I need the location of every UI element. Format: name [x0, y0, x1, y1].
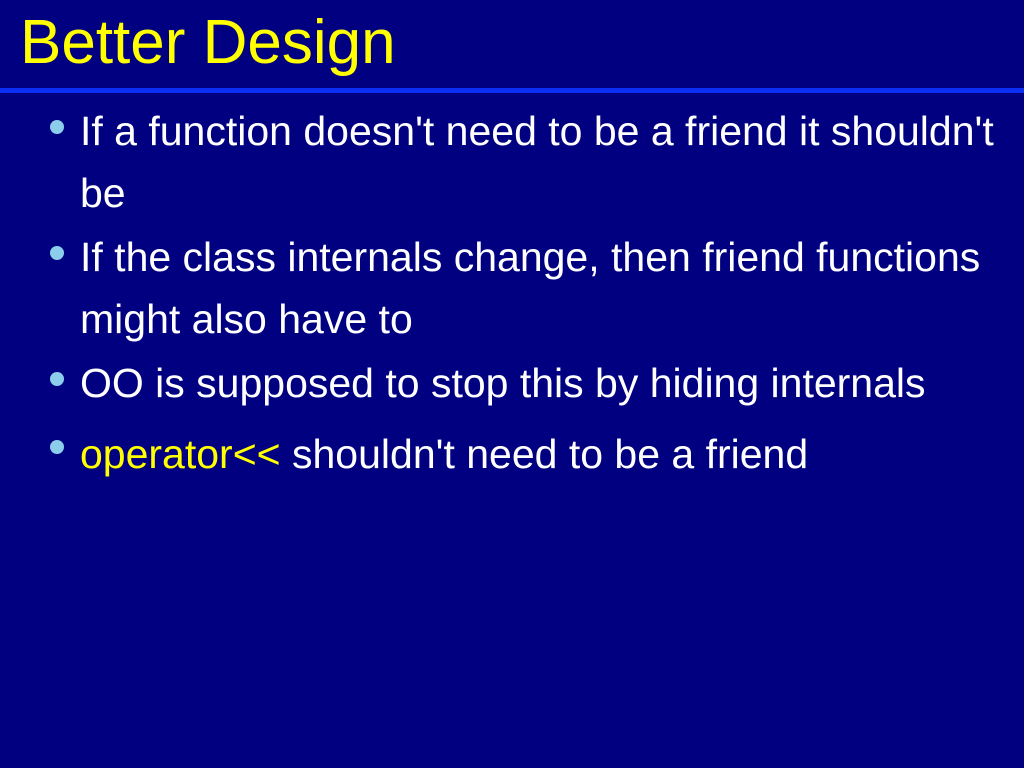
bullet-dot-icon	[50, 372, 64, 386]
bullet-text-3: OO is supposed to stop this by hiding in…	[80, 352, 1000, 414]
bullet-dot-icon	[50, 440, 64, 454]
list-item: operator<< shouldn't need to be a friend	[0, 416, 1000, 492]
bullet-text-1: If a function doesn't need to be a frien…	[80, 100, 1000, 224]
title-divider-rule	[0, 88, 1024, 93]
list-item: OO is supposed to stop this by hiding in…	[0, 352, 1000, 414]
bullet-dot-icon	[50, 120, 64, 134]
page-title: Better Design	[20, 6, 396, 80]
bullet-dot-icon	[50, 246, 64, 260]
list-item: If a function doesn't need to be a frien…	[0, 100, 1000, 224]
operator-code-accent: operator<<	[80, 431, 281, 477]
slide-bullet-list: If a function doesn't need to be a frien…	[0, 100, 1000, 494]
bullet-text-4-rest: shouldn't need to be a friend	[281, 431, 809, 477]
bullet-text-2: If the class internals change, then frie…	[80, 226, 1000, 350]
bullet-text-4: operator<< shouldn't need to be a friend	[80, 416, 1000, 492]
slide-title-block: Better Design	[0, 0, 1024, 93]
presentation-slide: Better Design If a function doesn't need…	[0, 0, 1024, 768]
list-item: If the class internals change, then frie…	[0, 226, 1000, 350]
